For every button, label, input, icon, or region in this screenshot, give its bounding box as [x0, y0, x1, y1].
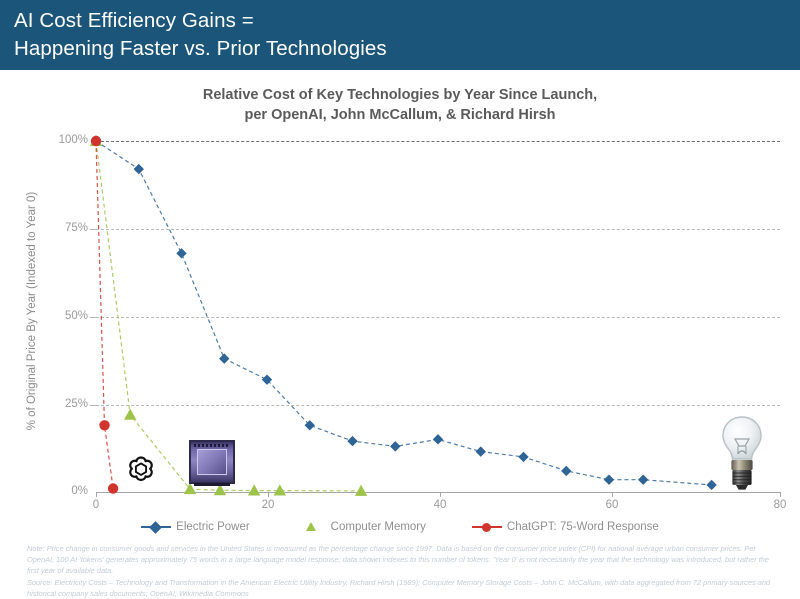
chart-title-line2: per OpenAI, John McCallum, & Richard Hir… [0, 105, 800, 125]
memory-chip-icon [189, 440, 235, 484]
gridline-50 [96, 317, 780, 318]
header-title-line1: AI Cost Efficiency Gains = [14, 7, 800, 35]
chart-legend: Electric Power Computer Memory ChatGPT: … [0, 521, 800, 533]
gridline-100 [96, 141, 780, 142]
footnote: Note: Price change in consumer goods and… [27, 543, 777, 599]
legend-label-electric-power: Electric Power [176, 521, 250, 533]
x-tick-80 [780, 492, 781, 497]
y-tick-label-50: 50% [36, 310, 88, 322]
legend-item-electric-power[interactable]: Electric Power [141, 521, 250, 533]
x-tick-20 [268, 492, 269, 497]
chart-title-line1: Relative Cost of Key Technologies by Yea… [0, 85, 800, 105]
legend-item-chatgpt[interactable]: ChatGPT: 75-Word Response [472, 521, 659, 533]
openai-logo-icon [124, 452, 158, 486]
x-tick-60 [612, 492, 613, 497]
x-tick-label-60: 60 [592, 499, 632, 511]
footnote-note: Note: Price change in consumer goods and… [27, 543, 777, 577]
x-tick-0 [96, 492, 97, 497]
legend-marker-circle-icon [472, 522, 502, 532]
slide: AI Cost Efficiency Gains = Happening Fas… [0, 0, 800, 599]
footnote-source: Source: Electricity Costs – Technology a… [27, 577, 777, 599]
x-tick-label-40: 40 [420, 499, 460, 511]
slide-header: AI Cost Efficiency Gains = Happening Fas… [0, 0, 800, 70]
y-tick-label-0: 0% [36, 485, 88, 497]
gridline-25 [96, 405, 780, 406]
legend-label-chatgpt: ChatGPT: 75-Word Response [507, 521, 659, 533]
header-title-line2: Happening Faster vs. Prior Technologies [14, 35, 800, 63]
x-tick-label-80: 80 [760, 499, 800, 511]
x-tick-label-20: 20 [248, 499, 288, 511]
chart-title: Relative Cost of Key Technologies by Yea… [0, 85, 800, 125]
x-axis-line [96, 492, 780, 493]
x-tick-40 [440, 492, 441, 497]
legend-item-computer-memory[interactable]: Computer Memory [296, 521, 426, 533]
y-tick-label-75: 75% [36, 222, 88, 234]
gridline-75 [96, 229, 780, 230]
light-bulb-icon [716, 415, 768, 493]
legend-marker-diamond-icon [141, 522, 171, 532]
legend-marker-triangle-icon [296, 522, 326, 532]
y-tick-label-100: 100% [36, 134, 88, 146]
y-tick-label-25: 25% [36, 398, 88, 410]
x-tick-label-0: 0 [76, 499, 116, 511]
legend-label-computer-memory: Computer Memory [331, 521, 426, 533]
